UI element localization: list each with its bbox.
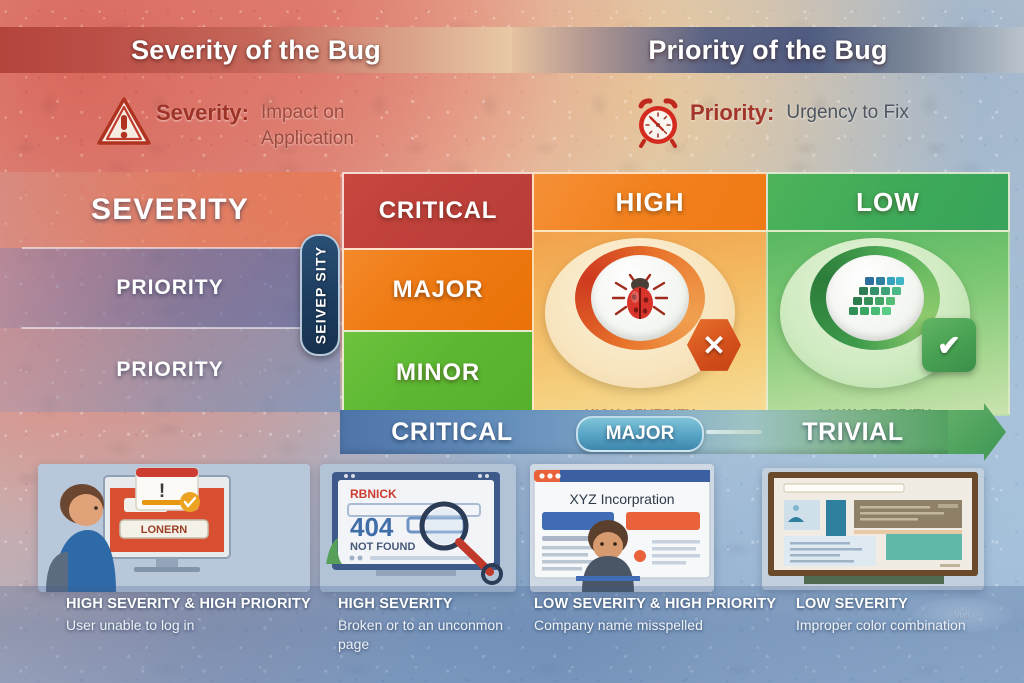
header-banner-priority: Priority of the Bug [512, 27, 1024, 73]
severity-cell-major[interactable]: MAJOR [342, 248, 534, 332]
caption-2-subtitle: Broken or to an unconmon page [338, 616, 518, 654]
caption-1-title: HIGH SEVERITY & HIGH PRIORITY [66, 596, 316, 612]
thumb-404-page[interactable]: RBNICK 404 NOT FOUND [320, 464, 516, 592]
definition-priority: Priority: Urgency to Fix [630, 92, 909, 150]
thumb-screen-text: LONERN [141, 524, 188, 536]
caption-3-title: LOW SEVERITY & HIGH PRIORITY [534, 596, 784, 612]
matrix-row-divider [22, 327, 322, 329]
thumb-login-error[interactable]: LONERN ! [38, 464, 310, 592]
thumb-screen-text: 404 [350, 512, 394, 542]
check-mark-glyph: ✔ [937, 329, 960, 362]
definition-severity: Severity: Impact on Application [96, 92, 411, 151]
header-banner-severity: Severity of the Bug [0, 27, 512, 73]
scale-connector-line [706, 430, 762, 434]
watermark: शिक्षा [912, 598, 1012, 632]
alarm-clock-icon [630, 94, 686, 150]
caption-3-subtitle: Company name misspelled [534, 616, 784, 635]
example-captions: HIGH SEVERITY & HIGH PRIORITY User unabl… [0, 596, 1024, 683]
caption-3: LOW SEVERITY & HIGH PRIORITY Company nam… [534, 596, 784, 635]
header-title-priority: Priority of the Bug [512, 35, 1024, 66]
check-mark-icon: ✔ [922, 318, 976, 372]
vertical-severity-pill-label: SEIVEP SITY [312, 246, 328, 345]
example-thumbnails: LONERN ! [0, 456, 1024, 606]
caption-2-title: HIGH SEVERITY [338, 596, 518, 612]
svg-text:!: ! [159, 481, 165, 502]
bug-icon [612, 273, 668, 323]
scale-strip-arrow-icon [948, 403, 1006, 461]
severity-priority-matrix: SEVERITY PRIORITY PRIORITY SEIVEP SITY C… [0, 172, 1024, 412]
header-title-severity: Severity of the Bug [0, 35, 512, 66]
infographic-canvas: Severity of the Bug Priority of the Bug … [0, 0, 1024, 683]
definition-key-priority: Priority: [690, 100, 774, 126]
priority-header-low[interactable]: LOW [766, 172, 1010, 232]
emblem-disc [826, 255, 924, 341]
severity-cell-critical[interactable]: CRITICAL [342, 172, 534, 250]
caption-2: HIGH SEVERITY Broken or to an unconmon p… [338, 596, 518, 654]
thumb-screen-text: NOT FOUND [350, 541, 415, 553]
scale-label-trivial: TRIVIAL [758, 410, 948, 454]
matrix-row-label-2: PRIORITY [0, 328, 340, 412]
vertical-severity-pill: SEIVEP SITY [300, 234, 340, 356]
definition-value-severity: Impact on Application [261, 100, 411, 151]
thumb-screen-text: RBNICK [350, 487, 397, 501]
definition-value-priority: Urgency to Fix [786, 100, 908, 126]
thumb-bad-colors[interactable] [762, 468, 984, 590]
matrix-row-divider [22, 247, 322, 249]
matrix-row-label-1: PRIORITY [0, 248, 340, 328]
grid-blocks-icon [845, 275, 905, 321]
matrix-row-label-0: SEVERITY [0, 172, 340, 248]
priority-header-high[interactable]: HIGH [532, 172, 768, 232]
severity-scale-strip: CRITICAL MAJOR TRIVIAL [340, 410, 1006, 454]
emblem-low-severity[interactable]: ✔ LIOW SEVERITY & RIORITY [780, 238, 970, 388]
caption-1: HIGH SEVERITY & HIGH PRIORITY User unabl… [66, 596, 316, 635]
matrix-row-label-column: SEVERITY PRIORITY PRIORITY [0, 172, 340, 412]
caption-1-subtitle: User unable to log in [66, 616, 316, 635]
scale-label-major: MAJOR [576, 416, 704, 452]
severity-cell-minor[interactable]: MINOR [342, 330, 534, 416]
warning-triangle-icon [96, 94, 152, 150]
scale-label-critical: CRITICAL [352, 410, 552, 454]
emblem-high-severity[interactable]: ✕ HIGH SEVERITY & LOORITY [545, 238, 735, 388]
thumb-screen-text: XYZ Incorpration [569, 491, 674, 507]
thumb-company-site[interactable]: XYZ Incorpration [530, 464, 714, 592]
definition-key-severity: Severity: [156, 100, 249, 126]
x-mark-glyph: ✕ [702, 329, 725, 362]
emblem-disc [591, 255, 689, 341]
